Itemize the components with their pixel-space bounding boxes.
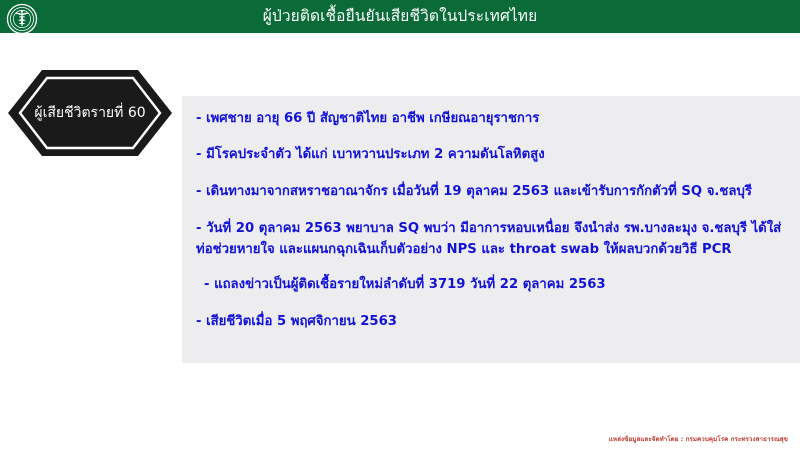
case-detail-line: - เสียชีวิตเมื่อ 5 พฤศจิกายน 2563 — [196, 313, 784, 330]
case-detail-line: - แถลงข่าวเป็นผู้ติดเชื้อรายใหม่ลำดับที่… — [196, 276, 784, 293]
ministry-of-public-health-seal-icon — [5, 3, 39, 35]
case-details-panel: - เพศชาย อายุ 66 ปี สัญชาติไทย อาชีพ เกษ… — [182, 96, 800, 363]
death-case-badge: ผู้เสียชีวิตรายที่ 60 — [6, 68, 174, 158]
case-detail-line: - เพศชาย อายุ 66 ปี สัญชาติไทย อาชีพ เกษ… — [196, 110, 784, 127]
page-title: ผู้ป่วยติดเชื้อยืนยันเสียชีวิตในประเทศไท… — [263, 9, 538, 25]
case-detail-line: - วันที่ 20 ตุลาคม 2563 พยาบาล SQ พบว่า … — [196, 219, 784, 260]
source-credit: แหล่งข้อมูลและจัดทำโดย : กรมควบคุมโรค กร… — [609, 434, 788, 444]
case-detail-line: - มีโรคประจำตัว ได้แก่ เบาหวานประเภท 2 ค… — [196, 146, 784, 163]
case-detail-line: - เดินทางมาจากสหราชอาณาจักร เมื่อวันที่ … — [196, 183, 784, 200]
page-header: ผู้ป่วยติดเชื้อยืนยันเสียชีวิตในประเทศไท… — [0, 0, 800, 33]
